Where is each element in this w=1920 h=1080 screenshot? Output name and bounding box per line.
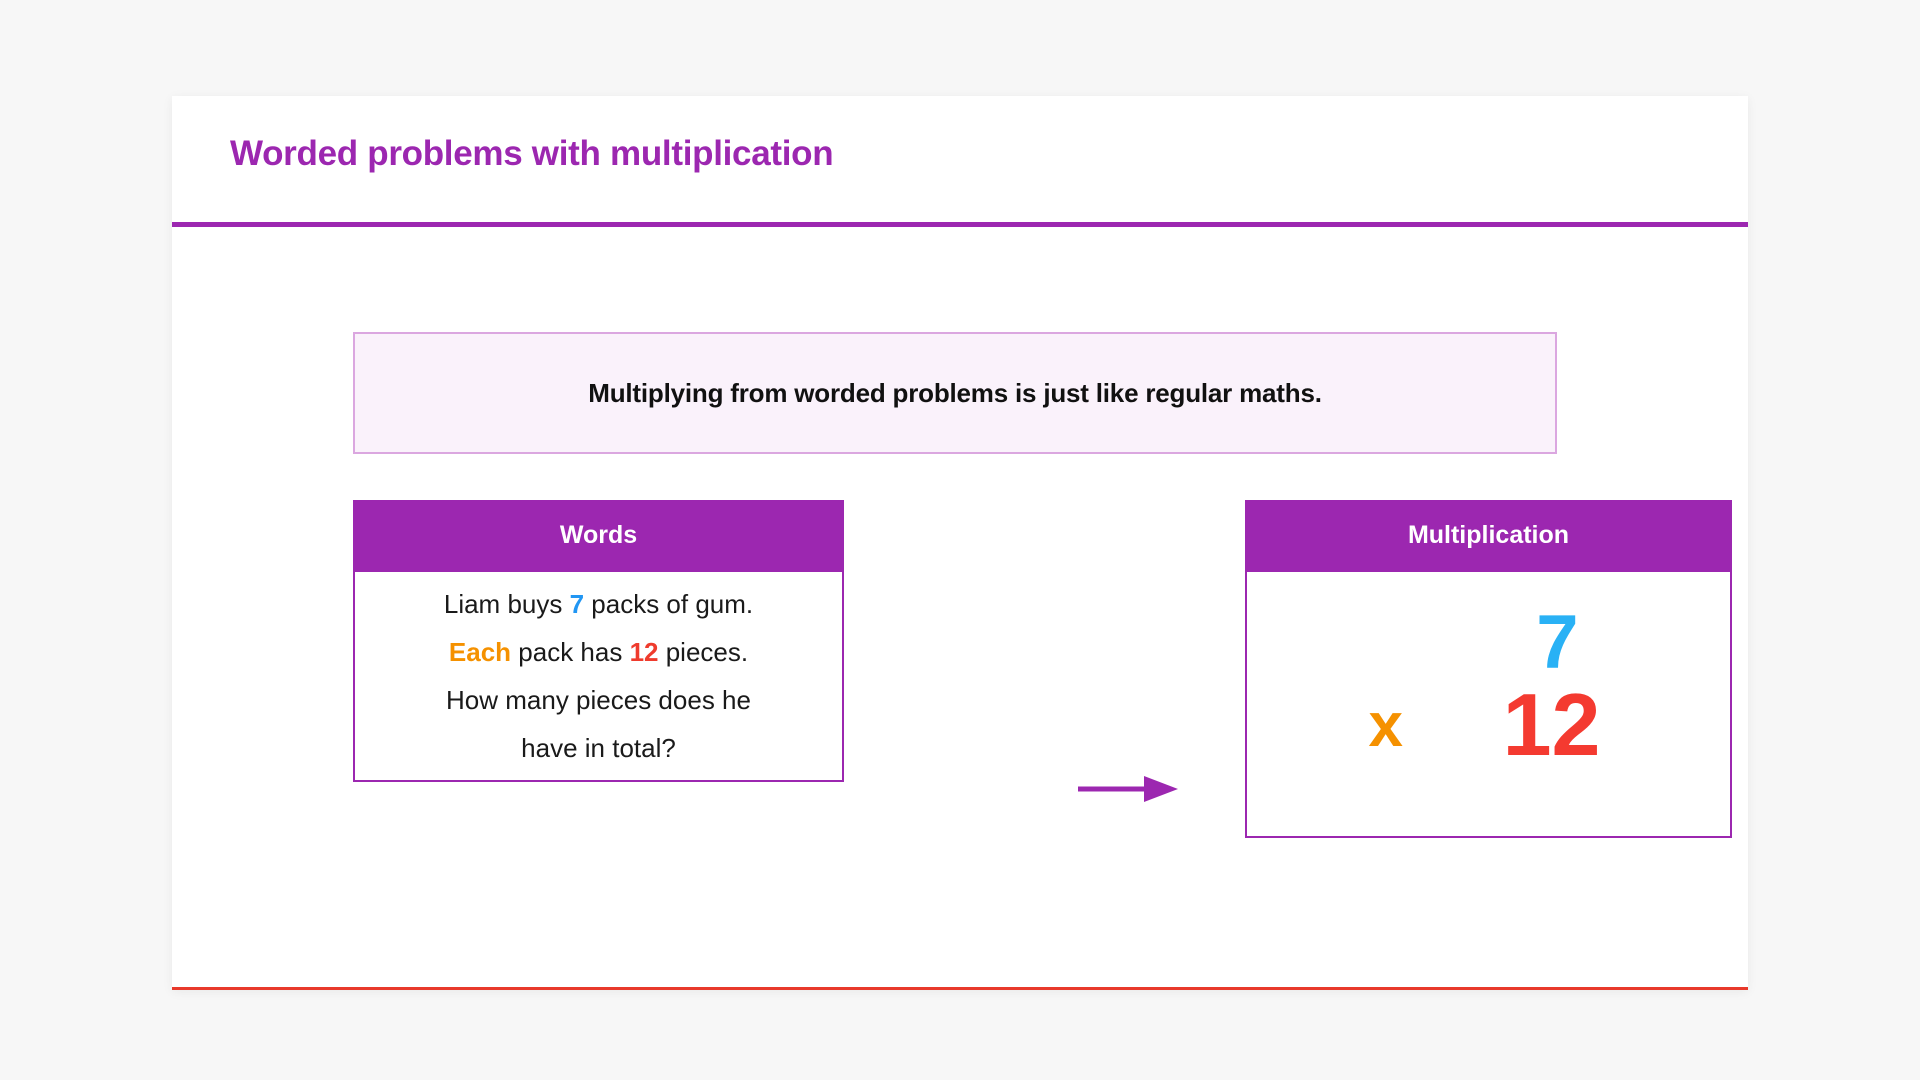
- word-problem-line-1: Liam buys 7 packs of gum.: [444, 580, 753, 628]
- line2-number: 12: [630, 637, 659, 667]
- multiplication-panel: Multiplication 7 x 12: [1245, 500, 1732, 838]
- multiplication-expression: 7 x 12: [1247, 572, 1730, 836]
- line2-middle: pack has: [511, 637, 630, 667]
- flow-arrow-icon: [1078, 776, 1178, 802]
- slide-card: Worded problems with multiplication Mult…: [172, 96, 1748, 990]
- word-problem-line-3: How many pieces does he: [446, 676, 751, 724]
- multiplication-panel-body: 7 x 12: [1245, 570, 1732, 838]
- line1-suffix: packs of gum.: [584, 589, 753, 619]
- info-banner: Multiplying from worded problems is just…: [353, 332, 1557, 454]
- multiplicand-bottom: 12: [1503, 681, 1601, 769]
- line2-suffix: pieces.: [658, 637, 748, 667]
- page-title: Worded problems with multiplication: [230, 134, 833, 174]
- title-divider: [172, 222, 1748, 227]
- multiplication-operator: x: [1369, 695, 1403, 757]
- words-panel-body: Liam buys 7 packs of gum. Each pack has …: [353, 570, 844, 782]
- info-banner-text: Multiplying from worded problems is just…: [588, 378, 1321, 409]
- line2-keyword: Each: [449, 637, 511, 667]
- multiplication-stack: 7 x 12: [1359, 599, 1619, 809]
- multiplication-panel-header: Multiplication: [1245, 500, 1732, 570]
- line1-prefix: Liam buys: [444, 589, 570, 619]
- word-problem-line-2: Each pack has 12 pieces.: [449, 628, 748, 676]
- multiplicand-top: 7: [1536, 605, 1578, 681]
- line1-number: 7: [570, 589, 584, 619]
- word-problem-line-4: have in total?: [521, 724, 676, 772]
- words-panel: Words Liam buys 7 packs of gum. Each pac…: [353, 500, 844, 782]
- words-panel-header: Words: [353, 500, 844, 570]
